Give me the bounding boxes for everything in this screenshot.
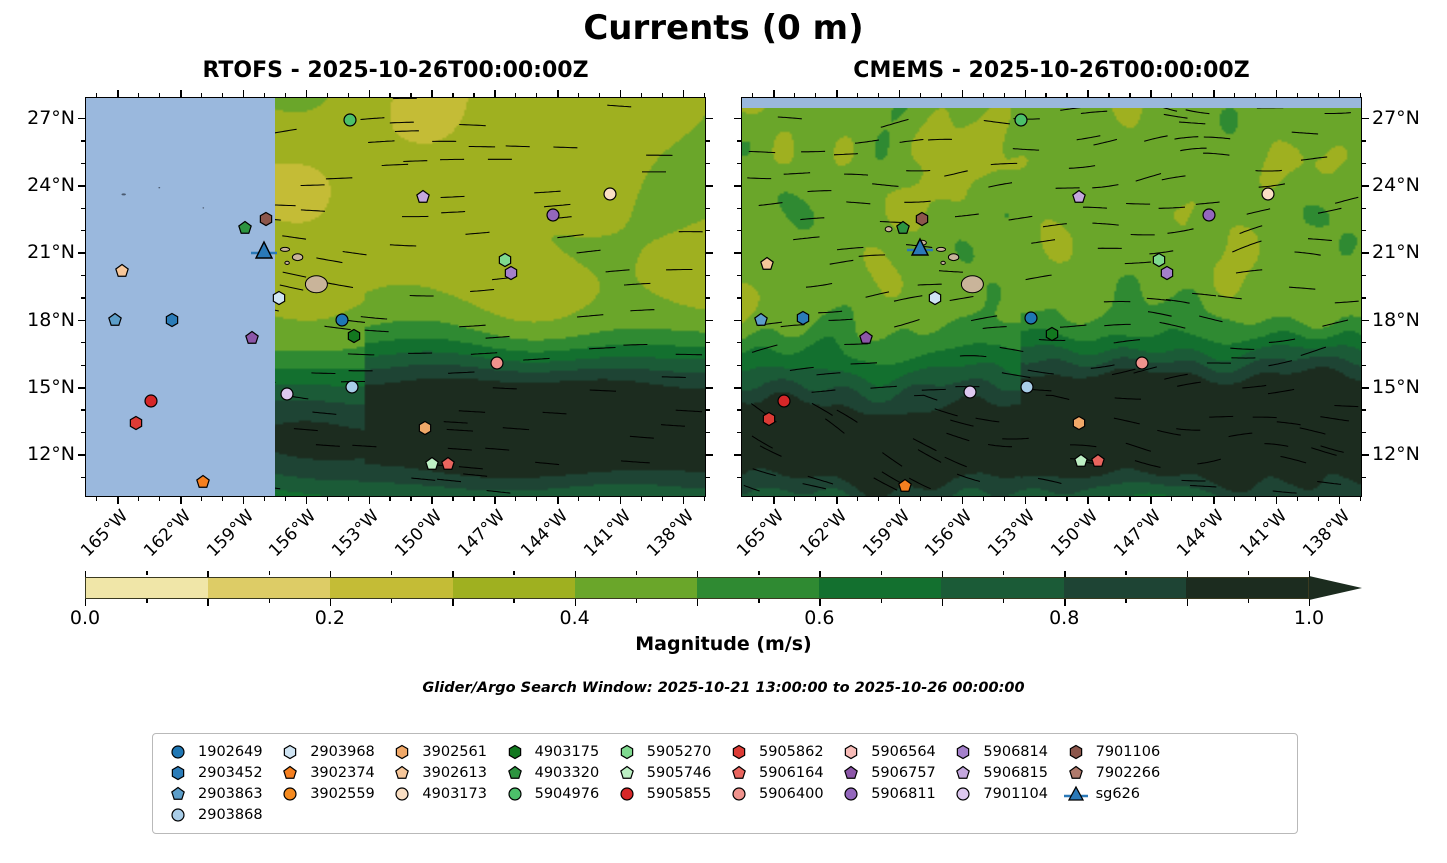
argo-marker-1902649[interactable] [334,312,350,328]
colorbar-tick [1064,599,1065,606]
argo-marker-4903175[interactable] [1044,326,1060,342]
legend-item-2903868[interactable]: 2903868 [165,804,277,825]
y-tick [1362,297,1366,298]
x-tick [452,497,453,501]
x-tick [1045,93,1046,97]
argo-marker-4903173[interactable] [602,186,618,202]
y-tick [81,230,85,231]
y-tick [706,454,713,456]
colorbar-tick [452,599,453,606]
y-tick-label: 27°N [1372,107,1447,129]
x-tick [620,497,622,504]
x-tick [1192,497,1193,501]
colorbar-tick-top [1003,571,1004,575]
x-tick [920,497,921,501]
x-tick [1255,497,1256,501]
x-tick-label: 162°W [794,506,851,563]
argo-marker-5905855[interactable] [143,393,159,409]
colorbar-tick-label: 0.4 [559,607,589,629]
argo-marker-4903173[interactable] [1260,186,1276,202]
y-tick [1362,342,1366,343]
panel-title-rtofs: RTOFS - 2025-10-26T00:00:00Z [85,58,706,83]
argo-marker-5906757[interactable] [858,330,874,346]
colorbar-tick-top [452,571,453,577]
colorbar-label: Magnitude (m/s) [85,633,1362,655]
argo-marker-2903452[interactable] [795,310,811,326]
y-tick [81,365,85,366]
argo-marker-3902374[interactable] [897,478,913,494]
legend-symbol-pentagon-icon [614,764,640,782]
argo-marker-5906164[interactable] [440,456,456,472]
y-tick [78,252,85,254]
legend-item-3902374[interactable]: 3902374 [277,762,389,783]
legend-label: 7901104 [983,786,1048,802]
x-tick [1087,497,1089,504]
legend-item-sg626[interactable]: sg626 [1063,783,1175,804]
legend-item-5906811[interactable]: 5906811 [838,783,950,804]
y-tick [706,230,710,231]
search-window-text: Glider/Argo Search Window: 2025-10-21 13… [0,680,1447,696]
colorbar-tick [1003,599,1004,603]
x-tick [201,497,202,501]
argo-marker-5906400[interactable] [489,355,505,371]
argo-marker-5905862[interactable] [128,415,144,431]
legend-item-5906815[interactable]: 5906815 [950,762,1062,783]
argo-marker-4903320[interactable] [237,220,253,236]
x-tick [1360,497,1361,501]
x-tick [96,93,97,97]
y-tick [737,432,741,433]
x-tick [1129,497,1130,501]
legend-symbol-hexagon-icon [389,743,415,761]
x-tick [473,93,474,97]
x-tick [683,90,685,97]
legend-item-5905855[interactable]: 5905855 [614,783,726,804]
legend-symbol-hexagon-icon [838,743,864,761]
argo-marker-5906757[interactable] [244,330,260,346]
argo-marker-2903452[interactable] [164,312,180,328]
y-tick [78,185,85,187]
argo-marker-5906164[interactable] [1090,453,1106,469]
argo-marker-5904976[interactable] [342,112,358,128]
argo-marker-5906811[interactable] [1201,207,1217,223]
x-tick [899,90,901,97]
colorbar-tick-label: 0.6 [804,607,834,629]
legend-item-5905746[interactable]: 5905746 [614,762,726,783]
colorbar-tick [881,599,882,603]
colorbar-band-5 [697,578,819,598]
x-tick [815,93,816,97]
legend-item-5905862[interactable]: 5905862 [726,741,838,762]
legend-label: 4903320 [535,765,600,781]
legend-symbol-pentagon-icon [726,764,752,782]
colorbar-tick-label: 1.0 [1294,607,1324,629]
argo-marker-1902649[interactable] [1023,310,1039,326]
legend-label: 2903863 [198,786,263,802]
colorbar-tick-top [513,571,514,575]
x-tick [1297,93,1298,97]
legend-label: 5906757 [871,765,936,781]
legend-label: 7902266 [1096,765,1161,781]
x-tick [348,497,349,501]
legend-label: 1902649 [198,744,263,760]
x-tick [1150,497,1152,504]
y-tick [737,140,741,141]
legend-symbol-circle-icon [165,743,191,761]
x-tick [1045,497,1046,501]
x-tick [1171,93,1172,97]
x-tick [662,93,663,97]
x-tick [180,90,182,97]
y-tick [81,477,85,478]
y-tick-label: 21°N [1372,241,1447,263]
y-tick-label: 15°N [1372,376,1447,398]
colorbar-tick-label: 0.2 [315,607,345,629]
x-tick [752,497,753,501]
x-tick [494,90,496,97]
argo-marker-5906815[interactable] [1071,189,1087,205]
x-tick [1025,497,1027,504]
y-tick [706,275,710,276]
y-tick [734,454,741,456]
y-tick [734,185,741,187]
x-tick [243,90,245,97]
y-tick [706,432,710,433]
colorbar-tick-top [1064,571,1065,577]
legend-item-7901106[interactable]: 7901106 [1063,741,1175,762]
x-tick [369,90,371,97]
colorbar-band-0 [86,578,208,598]
legend-item-4903173[interactable]: 4903173 [389,783,501,804]
colorbar-bands [85,577,1309,599]
y-tick [737,342,741,343]
y-tick-label: 12°N [0,443,75,465]
x-tick [878,497,879,501]
x-tick [1108,497,1109,501]
x-tick [962,497,964,504]
y-tick [706,252,713,254]
x-tick [389,93,390,97]
x-tick [983,93,984,97]
legend-item-1902649[interactable]: 1902649 [165,741,277,762]
x-tick-label: 165°W [75,506,132,563]
x-tick-label: 138°W [1297,506,1354,563]
x-tick [327,93,328,97]
y-tick [81,342,85,343]
legend-item-3902561[interactable]: 3902561 [389,741,501,762]
y-tick [1362,477,1366,478]
argo-marker-2903868[interactable] [1019,379,1035,395]
legend-symbol-circle-icon [389,785,415,803]
x-tick [578,93,579,97]
x-tick [1255,93,1256,97]
argo-marker-2903868[interactable] [344,379,360,395]
legend-symbol-circle-icon [502,785,528,803]
argo-marker-7901104[interactable] [279,386,295,402]
argo-marker-3902374[interactable] [195,474,211,490]
y-tick [734,387,741,389]
argo-marker-5905855[interactable] [776,393,792,409]
x-tick [327,497,328,501]
x-tick [473,497,474,501]
y-tick [78,454,85,456]
y-tick [706,477,710,478]
argo-marker-2903863[interactable] [107,312,123,328]
x-tick [683,497,685,504]
colorbar-tick-top [269,571,270,575]
legend-item-3902559[interactable]: 3902559 [277,783,389,804]
legend-symbol-hexagon-icon [1063,743,1089,761]
legend-label: 5904976 [535,786,600,802]
x-tick [1234,93,1235,97]
y-tick [737,409,741,410]
y-tick [706,185,713,187]
glider-marker-sg626[interactable] [249,240,279,262]
x-tick [1360,93,1361,97]
x-tick [264,497,265,501]
argo-marker-3902561[interactable] [417,420,433,436]
colorbar-tick [819,599,820,606]
x-tick-label: 162°W [138,506,195,563]
colorbar-band-6 [819,578,941,598]
y-tick [1362,454,1369,456]
legend-item-7902266[interactable]: 7902266 [1063,762,1175,783]
legend-item-5906564[interactable]: 5906564 [838,741,950,762]
legend-symbol-pentagon-icon [950,764,976,782]
x-tick-label: 165°W [731,506,788,563]
legend-item-2903452[interactable]: 2903452 [165,762,277,783]
legend-box: 1902649290345229038632903868290396839023… [152,733,1298,834]
x-tick [941,497,942,501]
argo-marker-2903968[interactable] [271,290,287,306]
argo-marker-7901106[interactable] [258,211,274,227]
x-tick-label: 147°W [453,506,510,563]
x-tick [773,497,775,504]
x-tick-label: 153°W [983,506,1040,563]
legend-item-4903175[interactable]: 4903175 [502,741,614,762]
x-tick [752,93,753,97]
legend-item-5904976[interactable]: 5904976 [502,783,614,804]
argo-marker-4903175[interactable] [346,328,362,344]
x-tick-label: 150°W [390,506,447,563]
x-tick-label: 159°W [857,506,914,563]
argo-marker-3902561[interactable] [1071,415,1087,431]
x-tick-label: 156°W [264,506,321,563]
legend-symbol-pentagon-icon [165,785,191,803]
y-tick [706,140,710,141]
x-tick [96,497,97,501]
y-tick [81,297,85,298]
figure-suptitle: Currents (0 m) [0,8,1447,48]
y-tick [706,118,713,120]
colorbar-extend-arrow [1309,576,1362,600]
y-tick-label: 18°N [0,309,75,331]
y-tick [1362,252,1369,254]
x-tick [306,497,308,504]
legend-symbol-circle-icon [838,785,864,803]
legend-label: 5905862 [759,744,824,760]
land-hawaii [742,98,1360,495]
x-tick-label: 138°W [641,506,698,563]
x-tick [899,497,901,504]
legend-item-5906814[interactable]: 5906814 [950,741,1062,762]
y-tick [734,118,741,120]
legend-symbol-hexagon-icon [277,743,303,761]
x-tick [494,497,496,504]
legend-symbol-hexagon-icon [950,743,976,761]
x-tick [159,497,160,501]
argo-marker-5904976[interactable] [1013,112,1029,128]
x-tick [117,90,119,97]
argo-marker-5905746[interactable] [424,456,440,472]
legend-item-5905270[interactable]: 5905270 [614,741,726,762]
x-tick [1192,93,1193,97]
x-tick [410,497,411,501]
legend-symbol-pentagon-icon [277,764,303,782]
y-tick [1362,275,1366,276]
legend-label: 5906815 [983,765,1048,781]
colorbar-tick [697,599,698,606]
legend-symbol-hexagon-icon [614,743,640,761]
legend-label: 5905270 [647,744,712,760]
argo-marker-5906811[interactable] [545,207,561,223]
colorbar-tick [1248,599,1249,603]
legend-label: 2903868 [198,807,263,823]
y-tick [706,297,710,298]
x-tick [410,93,411,97]
legend-item-4903320[interactable]: 4903320 [502,762,614,783]
legend-item-5906757[interactable]: 5906757 [838,762,950,783]
argo-marker-3902613[interactable] [759,256,775,272]
x-tick [557,90,559,97]
y-tick [706,320,713,322]
argo-marker-2903968[interactable] [927,290,943,306]
x-tick [1276,90,1278,97]
x-tick [1318,93,1319,97]
y-tick [1362,365,1366,366]
legend-item-7901104[interactable]: 7901104 [950,783,1062,804]
legend-item-5906164[interactable]: 5906164 [726,762,838,783]
legend-label: 4903173 [422,786,487,802]
colorbar: 0.00.20.40.60.81.0 [85,577,1362,599]
legend-label: 5906564 [871,744,936,760]
x-tick [159,93,160,97]
x-tick [941,93,942,97]
x-tick [515,497,516,501]
y-tick [1362,320,1369,322]
colorbar-tick-top [1125,571,1126,575]
legend-symbol-pentagon-icon [1063,764,1089,782]
legend-symbol-glider-icon [1063,785,1089,803]
colorbar-tick [758,599,759,603]
argo-marker-5906400[interactable] [1134,355,1150,371]
argo-marker-7901104[interactable] [962,384,978,400]
colorbar-tick [330,599,331,606]
argo-marker-5906814[interactable] [1159,265,1175,281]
x-tick [1025,90,1027,97]
x-tick [1276,497,1278,504]
legend-grid: 1902649290345229038632903868290396839023… [165,741,1287,825]
legend-label: 5905855 [647,786,712,802]
argo-marker-5905746[interactable] [1073,453,1089,469]
legend-item-2903968[interactable]: 2903968 [277,741,389,762]
legend-label: 3902559 [310,786,375,802]
y-tick [1362,140,1366,141]
argo-marker-3902613[interactable] [114,263,130,279]
argo-marker-7901106[interactable] [914,211,930,227]
x-tick [1004,93,1005,97]
argo-marker-5906814[interactable] [503,265,519,281]
x-tick [348,93,349,97]
map-axes-rtofs[interactable] [85,97,706,497]
legend-item-5906400[interactable]: 5906400 [726,783,838,804]
x-tick-label: 144°W [1171,506,1228,563]
legend-item-2903863[interactable]: 2903863 [165,783,277,804]
y-tick [734,252,741,254]
argo-marker-5905862[interactable] [761,411,777,427]
legend-symbol-circle-icon [950,785,976,803]
x-tick [599,93,600,97]
x-tick [1213,90,1215,97]
x-tick [515,93,516,97]
x-tick [1150,90,1152,97]
x-tick [983,497,984,501]
legend-label: 5906164 [759,765,824,781]
y-tick [81,432,85,433]
y-tick-label: 24°N [0,174,75,196]
colorbar-tick-top [697,571,698,577]
x-tick [536,497,537,501]
x-tick [285,497,286,501]
colorbar-tick-top [1309,571,1310,577]
x-tick [836,90,838,97]
x-tick-label: 141°W [1234,506,1291,563]
colorbar-tick-label: 0.0 [70,607,100,629]
y-tick [78,387,85,389]
y-tick-label: 27°N [0,107,75,129]
x-tick [662,497,663,501]
x-tick [620,90,622,97]
y-tick-label: 12°N [1372,443,1447,465]
x-tick [1066,93,1067,97]
legend-label: 5906814 [983,744,1048,760]
x-tick [794,93,795,97]
argo-marker-4903320[interactable] [895,220,911,236]
legend-symbol-pentagon-icon [502,764,528,782]
argo-marker-2903863[interactable] [753,312,769,328]
y-tick [737,163,741,164]
x-tick [1004,497,1005,501]
x-tick [557,497,559,504]
legend-label: 3902561 [422,744,487,760]
legend-symbol-circle-icon [614,785,640,803]
x-tick [962,90,964,97]
glider-marker-sg626[interactable] [905,237,935,259]
figure: Currents (0 m) RTOFS - 2025-10-26T00:00:… [0,0,1447,863]
x-tick [1129,93,1130,97]
legend-item-3902613[interactable]: 3902613 [389,762,501,783]
colorbar-tick [513,599,514,603]
legend-label: 7901106 [1096,744,1161,760]
legend-label: 3902374 [310,765,375,781]
argo-marker-5906815[interactable] [415,189,431,205]
colorbar-tick-top [575,571,576,577]
legend-label: 5905746 [647,765,712,781]
x-tick [857,497,858,501]
x-tick [201,93,202,97]
y-tick [81,409,85,410]
map-axes-cmems[interactable] [741,97,1362,497]
